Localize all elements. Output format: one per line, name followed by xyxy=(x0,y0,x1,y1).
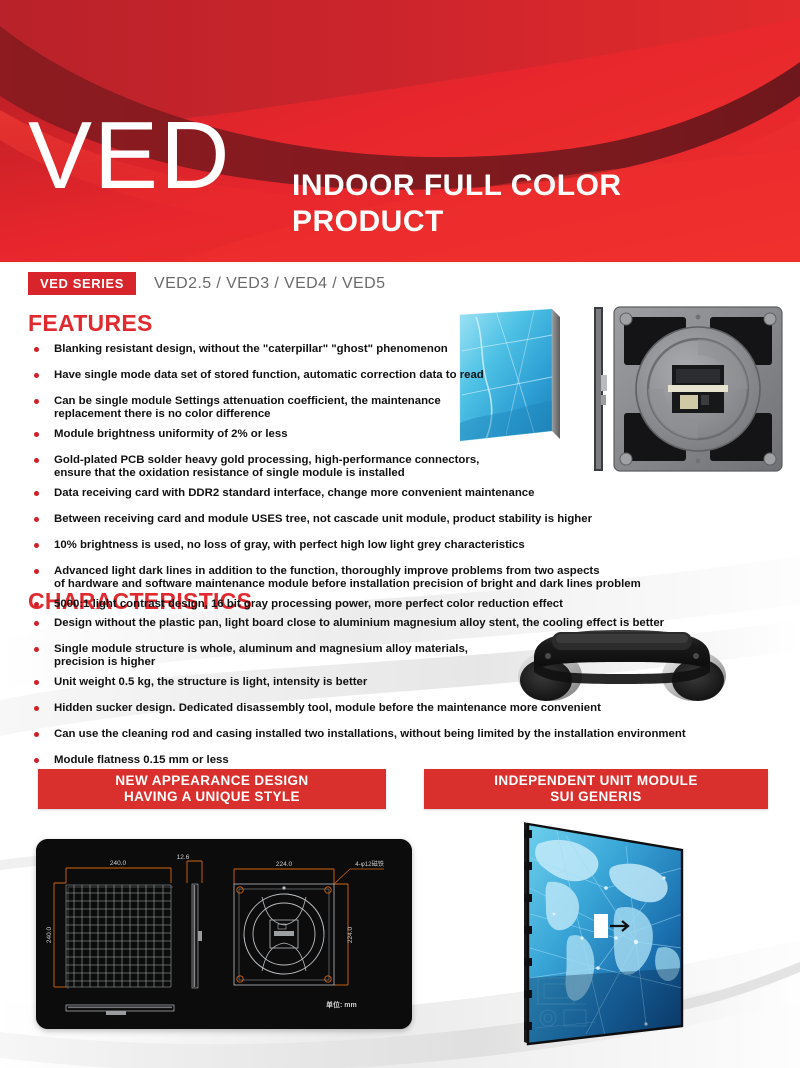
product-brochure-page: VED INDOOR FULL COLOR PRODUCT VED SERIES… xyxy=(0,0,800,1068)
features-list: Blanking resistant design, without the "… xyxy=(28,343,788,624)
module-dimension-drawing: 240.0 240.0 xyxy=(36,839,412,1029)
bullet-item: Advanced light dark lines in addition to… xyxy=(28,565,788,591)
bullet-text-line1: Hidden sucker design. Dedicated disassem… xyxy=(54,702,601,714)
bullet-item: Hidden sucker design. Dedicated disassem… xyxy=(28,702,788,715)
dim-front-width-label: 240.0 xyxy=(110,860,127,867)
banner-right-line1: INDEPENDENT UNIT MODULE xyxy=(494,773,697,789)
bullet-dot-icon xyxy=(34,706,39,711)
bullet-text-line1: Between receiving card and module USES t… xyxy=(54,513,592,525)
magnet-note-label: 4-φ12磁铁 xyxy=(355,860,384,868)
bullet-dot-icon xyxy=(34,458,39,463)
bullet-text-line1: Advanced light dark lines in addition to… xyxy=(54,565,600,577)
features-heading: FEATURES xyxy=(28,310,153,337)
dim-rear-width-label: 224.0 xyxy=(276,861,293,868)
bullet-item: Between receiving card and module USES t… xyxy=(28,513,788,526)
header-subtitle-line1: INDOOR FULL COLOR xyxy=(292,169,622,202)
bullet-item: Blanking resistant design, without the "… xyxy=(28,343,788,356)
bullet-item: Module flatness 0.15 mm or less xyxy=(28,754,788,767)
bullet-text-line2: precision is higher xyxy=(54,656,788,669)
bullet-dot-icon xyxy=(34,647,39,652)
bullet-dot-icon xyxy=(34,347,39,352)
bullet-item: Unit weight 0.5 kg, the structure is lig… xyxy=(28,676,788,689)
bullet-text-line2: of hardware and software maintenance mod… xyxy=(54,578,788,591)
bullet-dot-icon xyxy=(34,732,39,737)
bullet-text-line1: 5000:1 light contrast design, 16 bit gra… xyxy=(54,598,563,610)
led-cabinet-world-map-photo xyxy=(486,818,776,1050)
banner-right-line2: SUI GENERIS xyxy=(550,789,641,805)
bullet-dot-icon xyxy=(34,621,39,626)
dim-front-height-label: 240.0 xyxy=(46,926,53,943)
series-row: VED SERIES VED2.5 / VED3 / VED4 / VED5 xyxy=(28,272,385,295)
bullet-item: Have single mode data set of stored func… xyxy=(28,369,788,382)
dimension-drawing-svg: 240.0 240.0 xyxy=(36,839,412,1029)
bullet-item: Design without the plastic pan, light bo… xyxy=(28,617,788,630)
bullet-text-line1: 10% brightness is used, no loss of gray,… xyxy=(54,539,525,551)
dim-rear-height-label: 224.0 xyxy=(347,926,354,943)
bullet-text-line1: Blanking resistant design, without the "… xyxy=(54,343,448,355)
bullet-dot-icon xyxy=(34,602,39,607)
bullet-text-line2: ensure that the oxidation resistance of … xyxy=(54,467,788,480)
bullet-text-line1: Can use the cleaning rod and casing inst… xyxy=(54,728,686,740)
characteristics-list: Design without the plastic pan, light bo… xyxy=(28,617,788,780)
bullet-item: Module brightness uniformity of 2% or le… xyxy=(28,428,788,441)
bullet-text-line1: Unit weight 0.5 kg, the structure is lig… xyxy=(54,676,367,688)
series-badge: VED SERIES xyxy=(28,272,136,295)
bullet-text-line1: Gold-plated PCB solder heavy gold proces… xyxy=(54,454,479,466)
bullet-item: 10% brightness is used, no loss of gray,… xyxy=(28,539,788,552)
header-subtitle: INDOOR FULL COLOR PRODUCT xyxy=(292,168,732,240)
header-subtitle-line2: PRODUCT xyxy=(292,205,444,238)
bullet-item: Gold-plated PCB solder heavy gold proces… xyxy=(28,454,788,480)
brand-logo: VED xyxy=(28,108,231,204)
bullet-text-line1: Module flatness 0.15 mm or less xyxy=(54,754,229,766)
bullet-dot-icon xyxy=(34,543,39,548)
header-banner: VED INDOOR FULL COLOR PRODUCT xyxy=(0,0,800,262)
bullet-text-line1: Can be single module Settings attenuatio… xyxy=(54,395,441,407)
banner-new-appearance-design: NEW APPEARANCE DESIGN HAVING A UNIQUE ST… xyxy=(38,769,386,809)
bullet-dot-icon xyxy=(34,680,39,685)
bullet-item: Can be single module Settings attenuatio… xyxy=(28,395,788,421)
bullet-item: Can use the cleaning rod and casing inst… xyxy=(28,728,788,741)
dim-thickness-label: 12.6 xyxy=(177,854,190,861)
bullet-text-line1: Have single mode data set of stored func… xyxy=(54,369,484,381)
bullet-text-line1: Module brightness uniformity of 2% or le… xyxy=(54,428,288,440)
bullet-dot-icon xyxy=(34,758,39,763)
header-text-group: VED INDOOR FULL COLOR PRODUCT xyxy=(0,0,800,262)
bullet-text-line1: Data receiving card with DDR2 standard i… xyxy=(54,487,534,499)
bullet-dot-icon xyxy=(34,373,39,378)
unit-note-label: 单位: mm xyxy=(326,1000,357,1009)
banner-left-line1: NEW APPEARANCE DESIGN xyxy=(115,773,308,789)
bullet-text-line1: Single module structure is whole, alumin… xyxy=(54,643,468,655)
banner-left-line2: HAVING A UNIQUE STYLE xyxy=(124,789,300,805)
bullet-dot-icon xyxy=(34,569,39,574)
banner-independent-unit-module: INDEPENDENT UNIT MODULE SUI GENERIS xyxy=(424,769,768,809)
bullet-dot-icon xyxy=(34,432,39,437)
bullet-item: 5000:1 light contrast design, 16 bit gra… xyxy=(28,598,788,611)
bullet-dot-icon xyxy=(34,399,39,404)
bullet-item: Data receiving card with DDR2 standard i… xyxy=(28,487,788,500)
bullet-text-line2: replacement there is no color difference xyxy=(54,408,788,421)
bullet-dot-icon xyxy=(34,517,39,522)
bullet-text-line1: Design without the plastic pan, light bo… xyxy=(54,617,664,629)
series-model-list: VED2.5 / VED3 / VED4 / VED5 xyxy=(154,275,385,293)
bullet-dot-icon xyxy=(34,491,39,496)
bullet-item: Single module structure is whole, alumin… xyxy=(28,643,788,669)
